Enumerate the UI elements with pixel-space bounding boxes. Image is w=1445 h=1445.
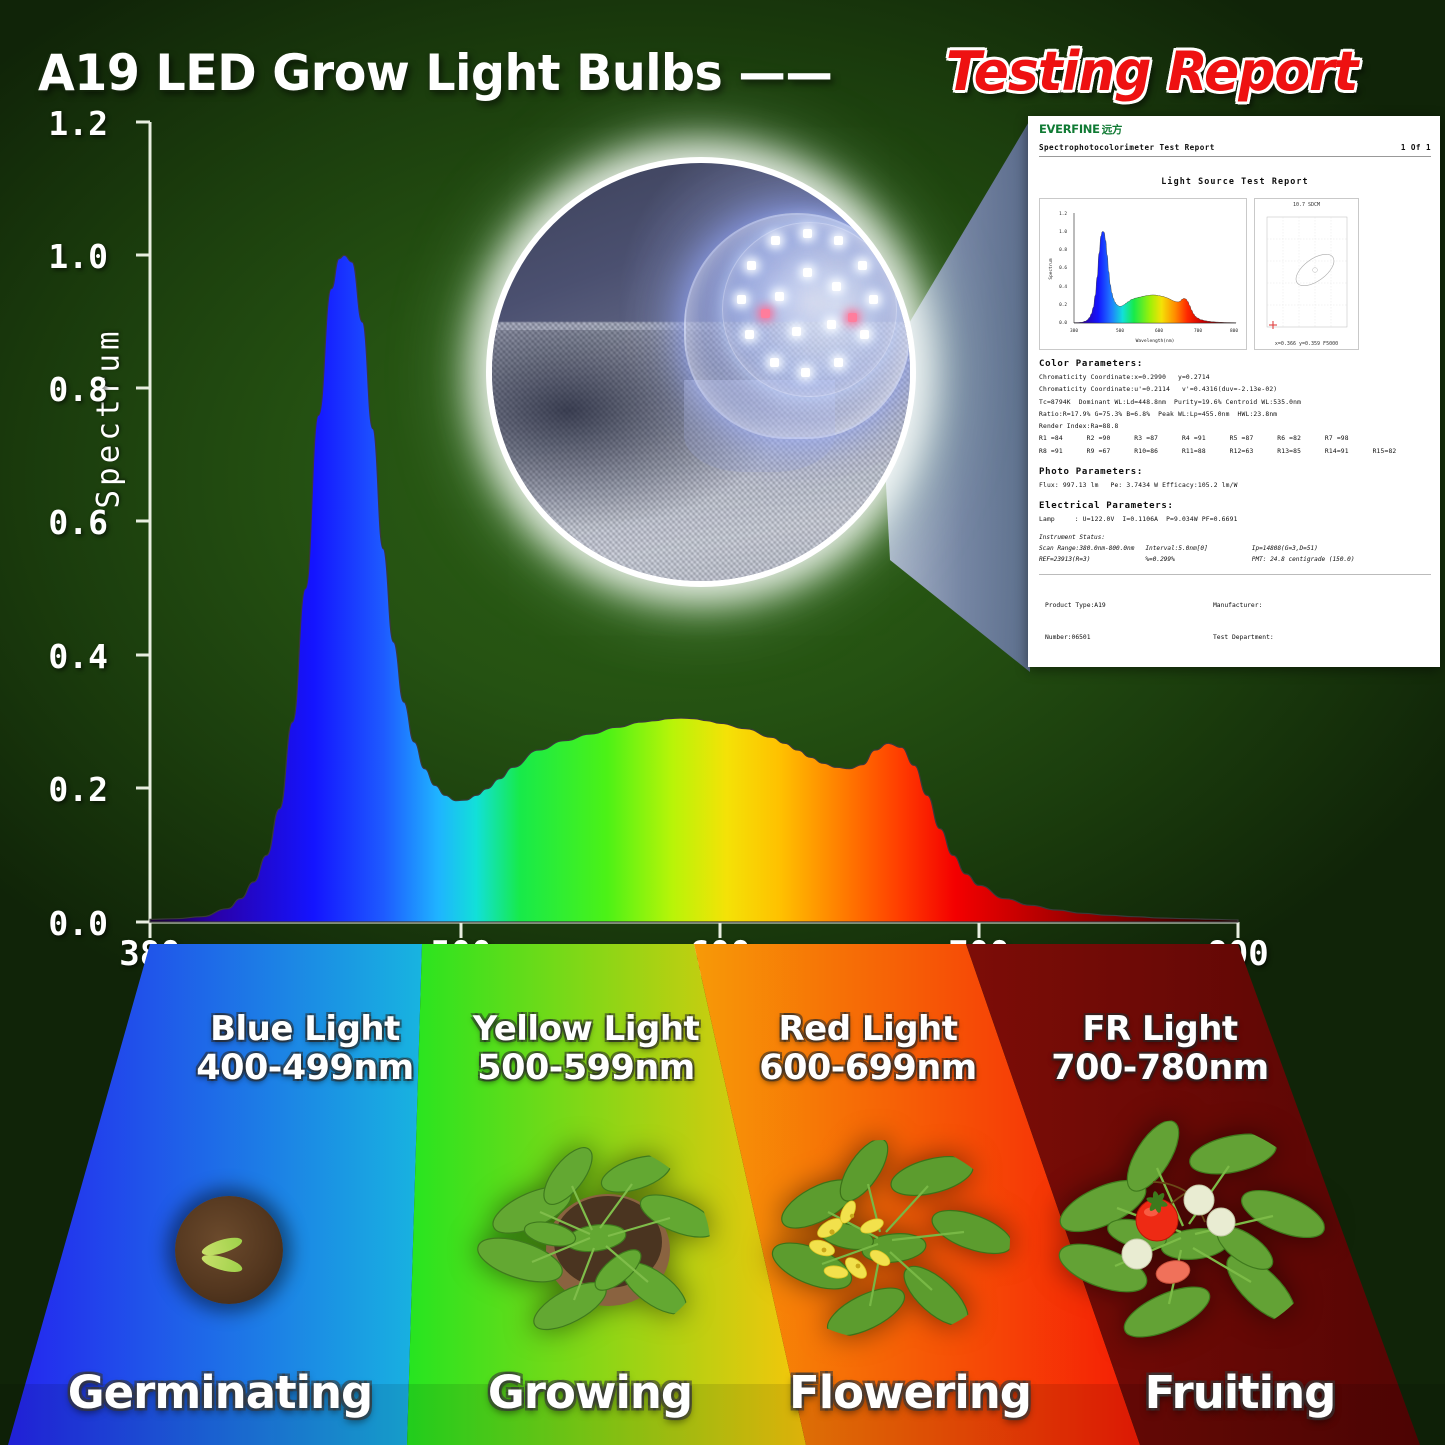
svg-text:0.6: 0.6 (1059, 265, 1067, 271)
y-tick-0-6: 0.6 (0, 503, 108, 542)
color-line-4: Ratio:R=17.9% G=75.3% B=6.8% Peak WL:Lp=… (1039, 409, 1431, 421)
band-range-yellow: 500-599nm (470, 1049, 702, 1089)
band-label-yellow: Yellow Light 500-599nm (470, 1010, 702, 1089)
report-charts: 1.2 1.0 0.8 0.6 0.4 0.2 0.0 380 500 600 … (1039, 198, 1431, 350)
render-index-row-1: R1 =84 R2 =90 R3 =87 R4 =91 R5 =87 R6 =8… (1039, 433, 1431, 445)
cie-chart-title: 10.7 SDCM (1255, 202, 1358, 208)
band-name-fr: FR Light (1082, 1009, 1237, 1049)
led-disc (722, 222, 898, 398)
cie-chart-footer: x=0.366 y=0.359 F5000 (1255, 341, 1358, 347)
electrical-line-1: Lamp : U=122.0V I=0.1106A P=9.034W PF=0.… (1039, 514, 1431, 526)
svg-text:0.4: 0.4 (1059, 284, 1067, 290)
band-name-yellow: Yellow Light (473, 1009, 700, 1049)
footer-test-department: Test Department: (1213, 633, 1372, 644)
svg-text:1.0: 1.0 (1059, 229, 1067, 235)
stage-label-growing: Growing (440, 1366, 740, 1419)
cie-chart-svg (1255, 199, 1358, 349)
svg-text:0.0: 0.0 (1059, 320, 1067, 326)
y-tick-0-4: 0.4 (0, 637, 108, 676)
band-name-red: Red Light (778, 1009, 957, 1049)
band-name-blue: Blue Light (210, 1009, 400, 1049)
everfine-logo: EVERFINE远方 (1039, 122, 1431, 137)
svg-text:0.2: 0.2 (1059, 302, 1067, 308)
band-label-blue: Blue Light 400-499nm (195, 1010, 415, 1089)
poster-root: A19 LED Grow Light Bulbs —— Testing Repo… (0, 0, 1445, 1445)
svg-text:700: 700 (1194, 328, 1202, 334)
instrument-status-heading: Instrument Status: (1039, 533, 1431, 544)
plant-flowering-photo (760, 1140, 1010, 1340)
electrical-parameters-heading: Electrical Parameters: (1039, 501, 1431, 511)
band-range-red: 600-699nm (758, 1049, 978, 1089)
svg-text:380: 380 (1070, 328, 1078, 334)
color-parameters-heading: Color Parameters: (1039, 359, 1431, 369)
report-subtitle: Light Source Test Report (1039, 176, 1431, 186)
svg-text:1.2: 1.2 (1059, 211, 1067, 217)
color-line-5: Render Index:Ra=88.8 (1039, 421, 1431, 433)
band-range-fr: 700-780nm (1050, 1049, 1270, 1089)
band-range-blue: 400-499nm (195, 1049, 415, 1089)
svg-text:Spectrum: Spectrum (1048, 258, 1054, 280)
report-spectrum-svg: 1.2 1.0 0.8 0.6 0.4 0.2 0.0 380 500 600 … (1040, 199, 1246, 349)
band-label-fr: FR Light 700-780nm (1050, 1010, 1270, 1089)
instrument-line-1: Scan Range:380.0nm-800.0nm Interval:5.0n… (1039, 544, 1431, 555)
svg-text:0.8: 0.8 (1059, 247, 1067, 253)
y-tick-1-0: 1.0 (0, 237, 108, 276)
footer-humidity: Humidity:65.0% (1213, 666, 1372, 667)
render-index-row-2: R8 =91 R9 =67 R10=86 R11=88 R12=63 R13=8… (1039, 446, 1431, 458)
y-axis-label: Spectrum (91, 327, 127, 508)
footer-product-type: Product Type:A19 (1045, 601, 1207, 612)
report-footer-right: Manufacturer: Test Department: Humidity:… (1213, 579, 1372, 667)
report-cie-chart: 10.7 SDCM (1254, 198, 1359, 350)
color-line-2: Chromaticity Coordinate:u'=0.2114 v'=0.4… (1039, 384, 1431, 396)
stage-label-fruiting: Fruiting (1090, 1366, 1390, 1419)
y-tick-0-8: 0.8 (0, 370, 108, 409)
y-tick-1-2: 1.2 (0, 104, 108, 143)
everfine-logo-cn: 远方 (1102, 124, 1122, 136)
svg-text:800: 800 (1230, 328, 1238, 334)
everfine-logo-text: EVERFINE (1039, 122, 1100, 136)
color-line-3: Tc=8794K Dominant WL:Ld=448.8nm Purity=1… (1039, 397, 1431, 409)
bulb-photo (486, 157, 916, 587)
photo-parameters-heading: Photo Parameters: (1039, 467, 1431, 477)
bulb-photo-inner (492, 163, 910, 581)
color-line-1: Chromaticity Coordinate:x=0.2990 y=0.271… (1039, 372, 1431, 384)
report-header-row: Spectrophotocolorimeter Test Report 1 Of… (1039, 143, 1431, 157)
report-footer-left: Product Type:A19 Number:06501 Temperatur… (1039, 579, 1207, 667)
plant-growing-photo (440, 1138, 710, 1348)
report-footer: Product Type:A19 Number:06501 Temperatur… (1039, 574, 1431, 667)
band-label-red: Red Light 600-699nm (758, 1010, 978, 1089)
footer-manufacturer: Manufacturer: (1213, 601, 1372, 612)
test-report-card: EVERFINE远方 Spectrophotocolorimeter Test … (1028, 116, 1440, 667)
plant-seedling-photo (175, 1196, 283, 1304)
footer-number: Number:06501 (1045, 633, 1207, 644)
footer-temperature: Temperature:25.3 deg (1045, 666, 1207, 667)
photo-line-1: Flux: 997.13 lm Pe: 3.7434 W Efficacy:10… (1039, 480, 1431, 492)
report-header-title: Spectrophotocolorimeter Test Report (1039, 143, 1215, 152)
y-tick-0-2: 0.2 (0, 770, 108, 809)
svg-text:600: 600 (1155, 328, 1163, 334)
stage-label-germinating: Germinating (60, 1366, 380, 1419)
svg-text:500: 500 (1116, 328, 1124, 334)
report-page-indicator: 1 Of 1 (1401, 143, 1431, 152)
report-spectrum-chart: 1.2 1.0 0.8 0.6 0.4 0.2 0.0 380 500 600 … (1039, 198, 1247, 350)
instrument-line-2: REF=23913(R=3) %=0.299% PMT: 24.8 centig… (1039, 555, 1431, 566)
plant-fruiting-photo (1045, 1120, 1325, 1345)
svg-text:Wavelength(nm): Wavelength(nm) (1136, 338, 1175, 344)
stage-label-flowering: Flowering (760, 1366, 1060, 1419)
